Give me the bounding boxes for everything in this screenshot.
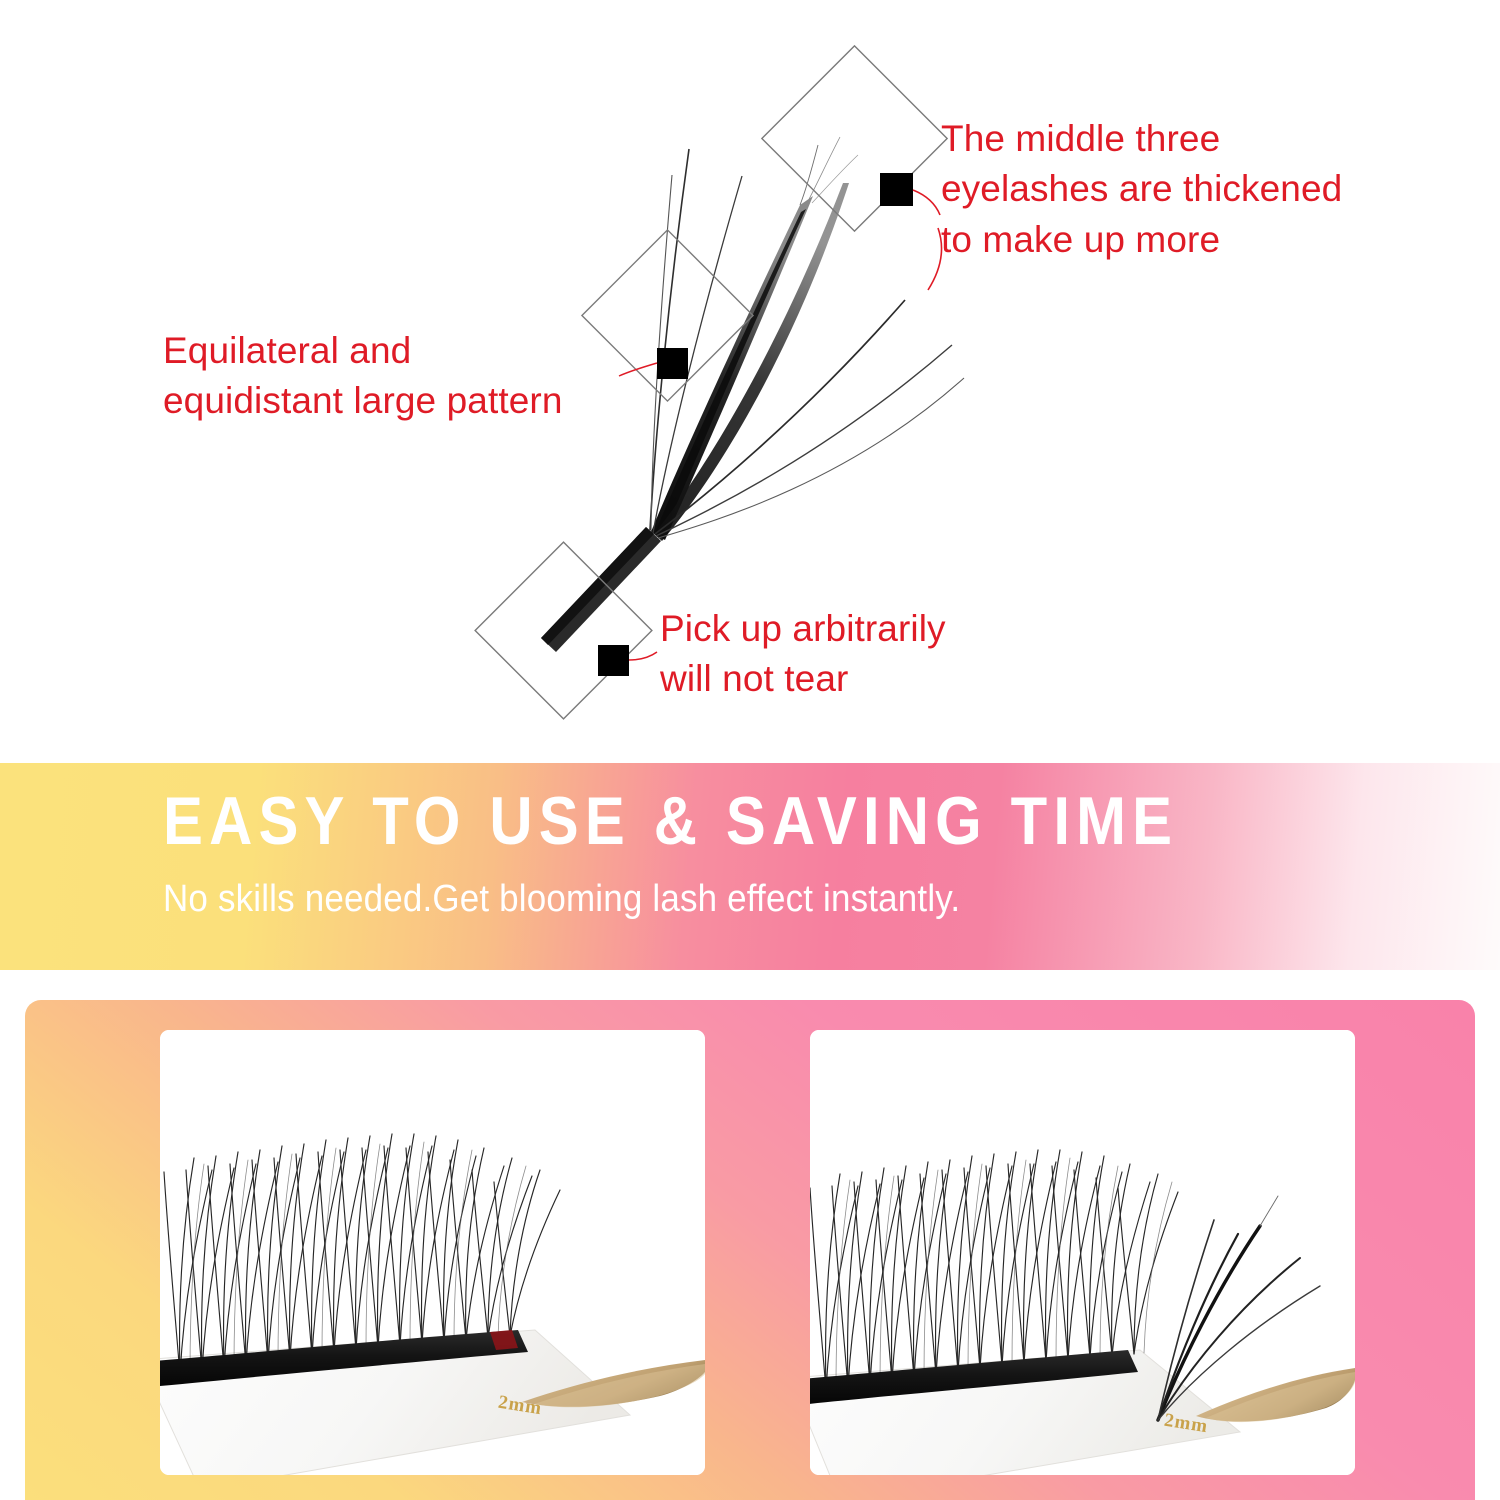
marker-square-bottom — [598, 645, 629, 676]
photo-card-lash-tray-with-tweezer: 2mm — [160, 1030, 705, 1475]
callout-equilateral-pattern: Equilateral and equidistant large patter… — [163, 326, 563, 427]
lash-fan-graphic — [541, 137, 964, 652]
leader-line-top — [913, 190, 940, 215]
photo-card-lash-tray-fan-pickup: 2mm — [810, 1030, 1355, 1475]
leader-line-middle — [619, 363, 657, 376]
product-photo-panel: 2mm — [25, 1000, 1475, 1500]
banner-subheadline: No skills needed.Get blooming lash effec… — [163, 878, 960, 921]
leader-line-top-2 — [928, 228, 942, 290]
marker-square-top — [880, 173, 913, 206]
marker-square-middle — [657, 348, 688, 379]
leader-line-bottom — [629, 652, 657, 660]
diamond-callout-top — [762, 46, 947, 231]
banner-headline: EASY TO USE & SAVING TIME — [163, 786, 1178, 857]
feature-diagram-section: The middle three eyelashes are thickened… — [0, 0, 1500, 763]
lash-tray-photo-left: 2mm — [160, 1030, 705, 1475]
lash-tray-photo-right: 2mm — [810, 1030, 1355, 1475]
callout-thickened-middle: The middle three eyelashes are thickened… — [941, 114, 1342, 265]
promo-banner: EASY TO USE & SAVING TIME No skills need… — [0, 763, 1500, 970]
callout-no-tear: Pick up arbitrarily will not tear — [660, 604, 946, 705]
